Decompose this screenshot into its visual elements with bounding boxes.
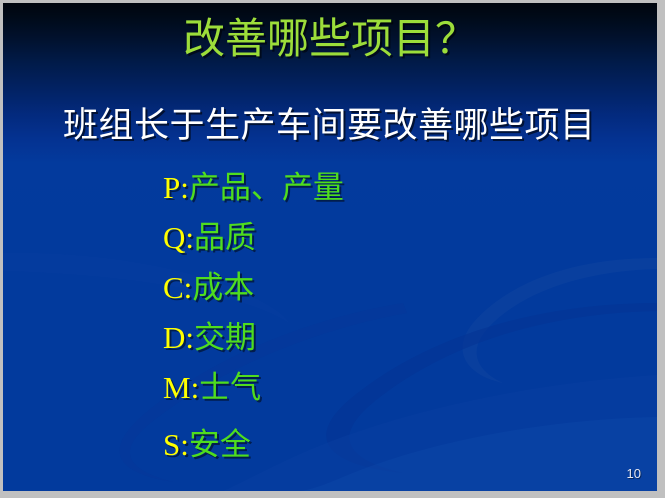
bullet-key-s: S:: [163, 427, 189, 462]
bullet-text-c: 成本: [192, 270, 254, 305]
slide-root: 改善哪些项目？ 班组长于生产车间要改善哪些项目 P:产品、产量 Q:品质 C:成…: [0, 0, 665, 498]
slide-heading: 班组长于生产车间要改善哪些项目: [63, 105, 596, 147]
bullet-text-m: 士气: [199, 370, 261, 405]
page-number: 10: [627, 466, 641, 481]
bullet-key-p: P:: [163, 170, 189, 205]
bullet-item-q: Q:品质: [163, 213, 643, 263]
bullet-item-p: P:产品、产量: [163, 163, 643, 213]
bullet-text-q: 品质: [194, 220, 256, 255]
bullet-text-d: 交期: [194, 320, 256, 355]
bullet-text-p: 产品、产量: [189, 170, 344, 205]
bullet-text-s: 安全: [189, 427, 251, 462]
bullet-item-d: D:交期: [163, 313, 643, 363]
bullet-key-q: Q:: [163, 220, 194, 255]
bullet-key-d: D:: [163, 320, 194, 355]
bullet-key-m: M:: [163, 370, 199, 405]
slide-canvas: 改善哪些项目？ 班组长于生产车间要改善哪些项目 P:产品、产量 Q:品质 C:成…: [3, 3, 657, 491]
bullet-item-c: C:成本: [163, 263, 643, 313]
bullet-item-s: S:安全: [163, 420, 643, 470]
bullet-list: P:产品、产量 Q:品质 C:成本 D:交期 M:士气 S:安全: [163, 163, 643, 470]
bullet-item-m: M:士气: [163, 363, 643, 413]
slide-title: 改善哪些项目？: [3, 15, 657, 65]
bullet-key-c: C:: [163, 270, 192, 305]
